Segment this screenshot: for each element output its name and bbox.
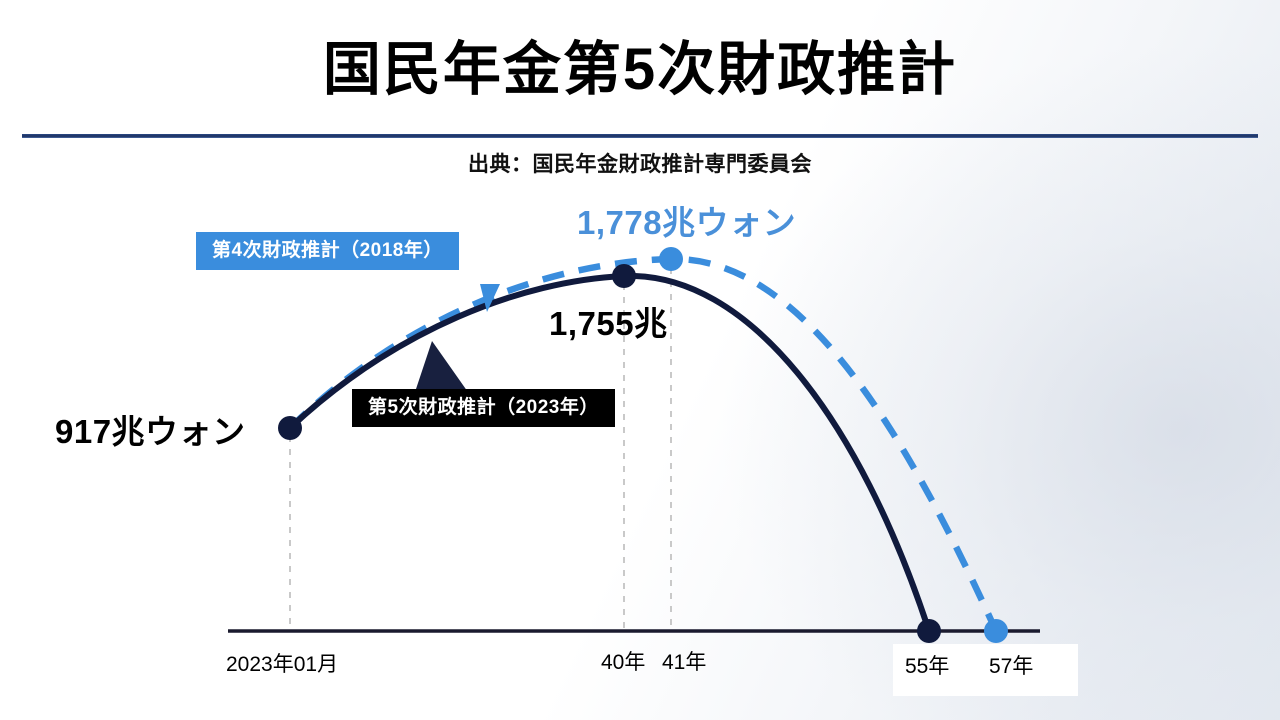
axis-tick-41: 41年 xyxy=(662,646,706,676)
callout-pointer-fifth xyxy=(415,341,470,395)
point-peak-fourth xyxy=(659,247,683,271)
chart-plot xyxy=(0,0,1280,720)
point-peak-fifth xyxy=(612,264,636,288)
annotation-peak-fourth: 1,778兆ウォン xyxy=(577,196,796,244)
axis-tick-57: 57年 xyxy=(989,650,1033,680)
axis-tick-40: 40年 xyxy=(601,646,645,676)
point-start xyxy=(278,416,302,440)
slide-canvas: 国民年金第5次財政推計 出典：国民年金財政推計専門委員会 第4次財政推計（201 xyxy=(0,0,1280,720)
point-end-fourth xyxy=(984,619,1008,643)
point-end-fifth xyxy=(917,619,941,643)
legend-label-fifth: 第5次財政推計（2023年） xyxy=(352,389,615,427)
axis-tick-start: 2023年01月 xyxy=(226,648,338,678)
annotation-start-value: 917兆ウォン xyxy=(55,405,246,453)
annotation-peak-fifth: 1,755兆 xyxy=(549,297,668,345)
legend-label-fourth: 第4次財政推計（2018年） xyxy=(196,232,459,270)
axis-tick-55: 55年 xyxy=(905,650,949,680)
